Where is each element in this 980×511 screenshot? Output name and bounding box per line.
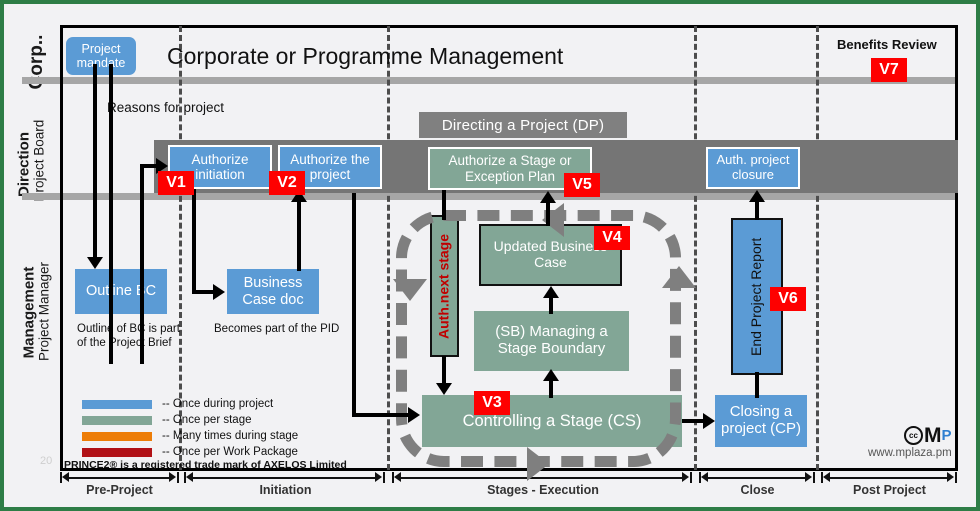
arrowhead-cs-to-sb [543, 369, 559, 381]
arrowhead-mandate-to-outlinebc [87, 257, 103, 269]
phase-axis-arrow-right [375, 472, 382, 482]
trademark-footnote: PRINCE2® is a registered trade mark of A… [64, 459, 347, 472]
badge-v1[interactable]: V1 [158, 171, 194, 195]
phase-axis-line [705, 477, 809, 479]
phase-axis-tick [177, 472, 179, 483]
lane-title-management: Management [21, 267, 38, 359]
badge-v2[interactable]: V2 [269, 171, 305, 195]
page-title: Corporate or Programme Management [167, 42, 563, 71]
reasons-for-project-note: Reasons for project [107, 100, 224, 117]
phase-axis-line [827, 477, 951, 479]
creative-commons-icon: cc [904, 426, 923, 445]
legend-label: -- Many times during stage [162, 430, 298, 442]
phase-axis-arrow-left [823, 472, 830, 482]
execution-loop [396, 210, 681, 467]
arrowhead-cs-to-cp [703, 413, 715, 429]
legend-swatch-orange [82, 432, 152, 441]
lane-role-text-manager: Project Manager [37, 262, 52, 361]
outline-bc-note-line2: of the Project Brief [77, 337, 172, 349]
lane-title-direction: Direction [16, 132, 33, 197]
arrowhead-ubc-to-authorize-stage [540, 191, 556, 203]
auth-project-closure-label: Auth. project closure [708, 153, 798, 182]
badge-v6[interactable]: V6 [770, 287, 806, 311]
connector-bcdoc-up [297, 199, 301, 271]
phase-label-initiation: Initiation [184, 483, 387, 497]
page-number-text: 20 [40, 455, 52, 467]
logo-m-letter: M [924, 425, 942, 446]
project-mandate-label: Project mandate [66, 42, 136, 70]
phase-divider-3 [694, 26, 697, 470]
phase-axis-tick [813, 472, 815, 483]
badge-v5[interactable]: V5 [564, 173, 600, 197]
phase-divider-4 [816, 26, 819, 470]
phase-axis-tick [383, 472, 385, 483]
lane-label-management: Management [21, 258, 38, 368]
phase-label-post-project: Post Project [821, 483, 958, 497]
legend-label: -- Once per stage [162, 414, 251, 426]
connector-atp-down [352, 193, 356, 417]
directing-a-project-title: Directing a Project (DP) [419, 112, 627, 138]
end-project-report-label: End Project Report [749, 237, 765, 355]
connector-mandate-to-outlinebc [93, 64, 97, 262]
connector-cp-to-epr [755, 372, 759, 398]
badge-v7[interactable]: V7 [871, 58, 907, 82]
loop-arrow-up [662, 266, 696, 288]
phase-label-close: Close [699, 483, 816, 497]
slide-page: Corp.. Direction Project Board Managemen… [0, 0, 980, 511]
legend-item: -- Once per stage [82, 413, 298, 427]
phase-axis-arrow-left [62, 472, 69, 482]
arrowhead-into-business-case-doc [213, 284, 225, 300]
website-url[interactable]: www.mplaza.pm [868, 447, 952, 459]
outline-bc-note-line1: Outline of BC is part [77, 323, 180, 335]
badge-v5-label: V5 [572, 176, 592, 194]
outline-bc-label: Outline BC [86, 283, 156, 299]
phase-axis-arrow-right [805, 472, 812, 482]
lane-label-corporate: Corp.. [26, 24, 48, 100]
connector-as-down [442, 190, 446, 220]
connector-epr-up [755, 200, 759, 220]
phase-axis-tick [821, 472, 823, 483]
legend-label: -- Once per Work Package [162, 446, 298, 458]
connector-initiation-vert [140, 164, 144, 364]
phase-axis-tick [955, 472, 957, 483]
lane-label-direction: Direction [16, 127, 33, 203]
arrowhead-sb-to-ubc [543, 286, 559, 298]
phase-axis-tick [699, 472, 701, 483]
legend-swatch-green [82, 416, 152, 425]
legend: -- Once during project -- Once per stage… [82, 397, 298, 461]
phase-divider-2 [387, 26, 390, 470]
connector-mandate-branch-vert [109, 64, 113, 364]
legend-item: -- Once during project [82, 397, 298, 411]
lane-role-project-board: Project Board [32, 126, 47, 202]
arrowhead-into-controlling-a-stage [408, 407, 420, 423]
phase-label-pre-project: Pre-Project [60, 483, 179, 497]
phase-axis-tick [690, 472, 692, 483]
phase-axis-tick [60, 472, 62, 483]
badge-v3[interactable]: V3 [474, 391, 510, 415]
badge-v2-label: V2 [277, 174, 297, 192]
phase-label-stages-execution: Stages - Execution [392, 483, 694, 497]
trademark-footnote-text: PRINCE2® is a registered trade mark of A… [64, 459, 347, 471]
arrowhead-epr-to-closure [749, 190, 765, 202]
auth-project-closure-box[interactable]: Auth. project closure [706, 147, 800, 189]
business-case-doc-label: Business Case doc [227, 275, 319, 307]
diagram-canvas: Corp.. Direction Project Board Managemen… [4, 4, 976, 507]
connector-ai-down [192, 189, 196, 294]
reasons-for-project-text: Reasons for project [107, 100, 224, 115]
phase-axis-line [190, 477, 379, 479]
badge-v4[interactable]: V4 [594, 226, 630, 250]
business-case-note-text: Becomes part of the PID [214, 323, 339, 335]
business-case-note: Becomes part of the PID [214, 322, 339, 336]
legend-swatch-blue [82, 400, 152, 409]
phase-axis-arrow-right [169, 472, 176, 482]
arrowhead-ans-to-cs [436, 383, 452, 395]
connector-atp-right [352, 413, 412, 417]
website-url-text: www.mplaza.pm [868, 447, 952, 459]
lane-role-text-board: Project Board [32, 120, 47, 202]
phase-axis-arrow-left [394, 472, 401, 482]
phase-axis-arrow-right [682, 472, 689, 482]
badge-v4-label: V4 [602, 229, 622, 247]
legend-item: -- Many times during stage [82, 429, 298, 443]
connector-ubc-up [546, 200, 550, 226]
badge-v3-label: V3 [482, 394, 502, 412]
directing-a-project-title-text: Directing a Project (DP) [442, 117, 604, 134]
project-mandate-box[interactable]: Project mandate [66, 37, 136, 75]
phase-axis-arrow-left [186, 472, 193, 482]
badge-v7-label: V7 [879, 61, 899, 79]
logo-p-letter: P [942, 428, 952, 443]
benefits-review-note: Benefits Review [837, 37, 937, 53]
legend-item: -- Once per Work Package [82, 445, 298, 459]
mplaza-logo: cc M P [904, 425, 952, 446]
page-number: 20 [40, 455, 52, 467]
outline-bc-box[interactable]: Outline BC [75, 269, 167, 314]
lane-role-project-manager: Project Manager [37, 257, 52, 367]
phase-axis-line [66, 477, 173, 479]
closing-a-project-box[interactable]: Closing a project (CP) [715, 395, 807, 447]
badge-v1-label: V1 [166, 174, 186, 192]
outline-bc-note: Outline of BC is part of the Project Bri… [77, 322, 180, 351]
phase-axis-tick [184, 472, 186, 483]
phase-axis-tick [392, 472, 394, 483]
legend-swatch-red [82, 448, 152, 457]
badge-v6-label: V6 [778, 290, 798, 308]
phase-axis-arrow-right [947, 472, 954, 482]
page-title-text: Corporate or Programme Management [167, 43, 563, 69]
loop-arrow-down [393, 279, 427, 301]
phase-axis-arrow-left [701, 472, 708, 482]
closing-a-project-label: Closing a project (CP) [715, 404, 807, 438]
legend-label: -- Once during project [162, 398, 273, 410]
benefits-review-text: Benefits Review [837, 37, 937, 52]
loop-arrow-right [527, 447, 549, 481]
business-case-doc-box[interactable]: Business Case doc [227, 269, 319, 314]
